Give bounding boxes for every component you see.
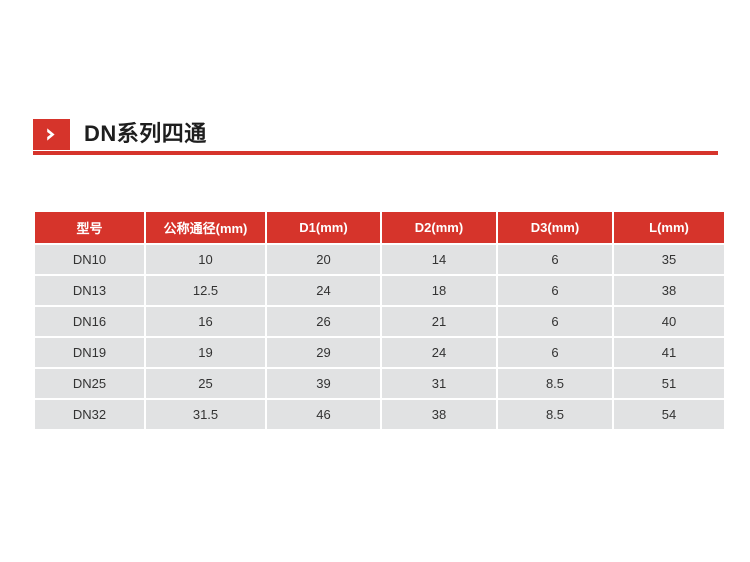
cell-model: DN25 — [35, 369, 144, 398]
column-header-model: 型号 — [35, 212, 144, 243]
cell-l: 40 — [614, 307, 724, 336]
table-row: DN25 25 39 31 8.5 51 — [35, 369, 724, 398]
cell-l: 51 — [614, 369, 724, 398]
cell-d3: 6 — [498, 276, 612, 305]
cell-model: DN13 — [35, 276, 144, 305]
cell-nominal-diameter: 12.5 — [146, 276, 265, 305]
heading-divider — [33, 151, 718, 155]
cell-d1: 39 — [267, 369, 380, 398]
cell-nominal-diameter: 16 — [146, 307, 265, 336]
table-row: DN19 19 29 24 6 41 — [35, 338, 724, 367]
page-title: DN系列四通 — [84, 123, 207, 145]
column-header-d3: D3(mm) — [498, 212, 612, 243]
cell-model: DN32 — [35, 400, 144, 429]
cell-d3: 8.5 — [498, 400, 612, 429]
table-row: DN16 16 26 21 6 40 — [35, 307, 724, 336]
column-header-d2: D2(mm) — [382, 212, 496, 243]
cell-l: 41 — [614, 338, 724, 367]
cell-d3: 8.5 — [498, 369, 612, 398]
cell-d2: 31 — [382, 369, 496, 398]
cell-l: 35 — [614, 245, 724, 274]
cell-l: 54 — [614, 400, 724, 429]
cell-nominal-diameter: 10 — [146, 245, 265, 274]
table-row: DN13 12.5 24 18 6 38 — [35, 276, 724, 305]
column-header-d1: D1(mm) — [267, 212, 380, 243]
cell-l: 38 — [614, 276, 724, 305]
cell-d2: 38 — [382, 400, 496, 429]
cell-d2: 21 — [382, 307, 496, 336]
cell-model: DN16 — [35, 307, 144, 336]
section-heading-row: DN系列四通 — [33, 118, 718, 150]
cell-d1: 46 — [267, 400, 380, 429]
cell-d3: 6 — [498, 245, 612, 274]
cell-d2: 14 — [382, 245, 496, 274]
cell-d1: 29 — [267, 338, 380, 367]
section-heading: DN系列四通 — [33, 118, 718, 156]
cell-d1: 26 — [267, 307, 380, 336]
cell-model: DN10 — [35, 245, 144, 274]
cell-nominal-diameter: 31.5 — [146, 400, 265, 429]
cell-d1: 24 — [267, 276, 380, 305]
table-row: DN10 10 20 14 6 35 — [35, 245, 724, 274]
table-row: DN32 31.5 46 38 8.5 54 — [35, 400, 724, 429]
cell-d3: 6 — [498, 338, 612, 367]
cell-d2: 18 — [382, 276, 496, 305]
column-header-l: L(mm) — [614, 212, 724, 243]
chevron-right-icon — [33, 119, 70, 150]
cell-d1: 20 — [267, 245, 380, 274]
column-header-nominal-diameter: 公称通径(mm) — [146, 212, 265, 243]
cell-d2: 24 — [382, 338, 496, 367]
cell-nominal-diameter: 19 — [146, 338, 265, 367]
spec-table-container: 型号 公称通径(mm) D1(mm) D2(mm) D3(mm) L(mm) D… — [33, 210, 718, 431]
cell-nominal-diameter: 25 — [146, 369, 265, 398]
cell-model: DN19 — [35, 338, 144, 367]
table-header-row: 型号 公称通径(mm) D1(mm) D2(mm) D3(mm) L(mm) — [35, 212, 724, 243]
cell-d3: 6 — [498, 307, 612, 336]
spec-table: 型号 公称通径(mm) D1(mm) D2(mm) D3(mm) L(mm) D… — [33, 210, 726, 431]
